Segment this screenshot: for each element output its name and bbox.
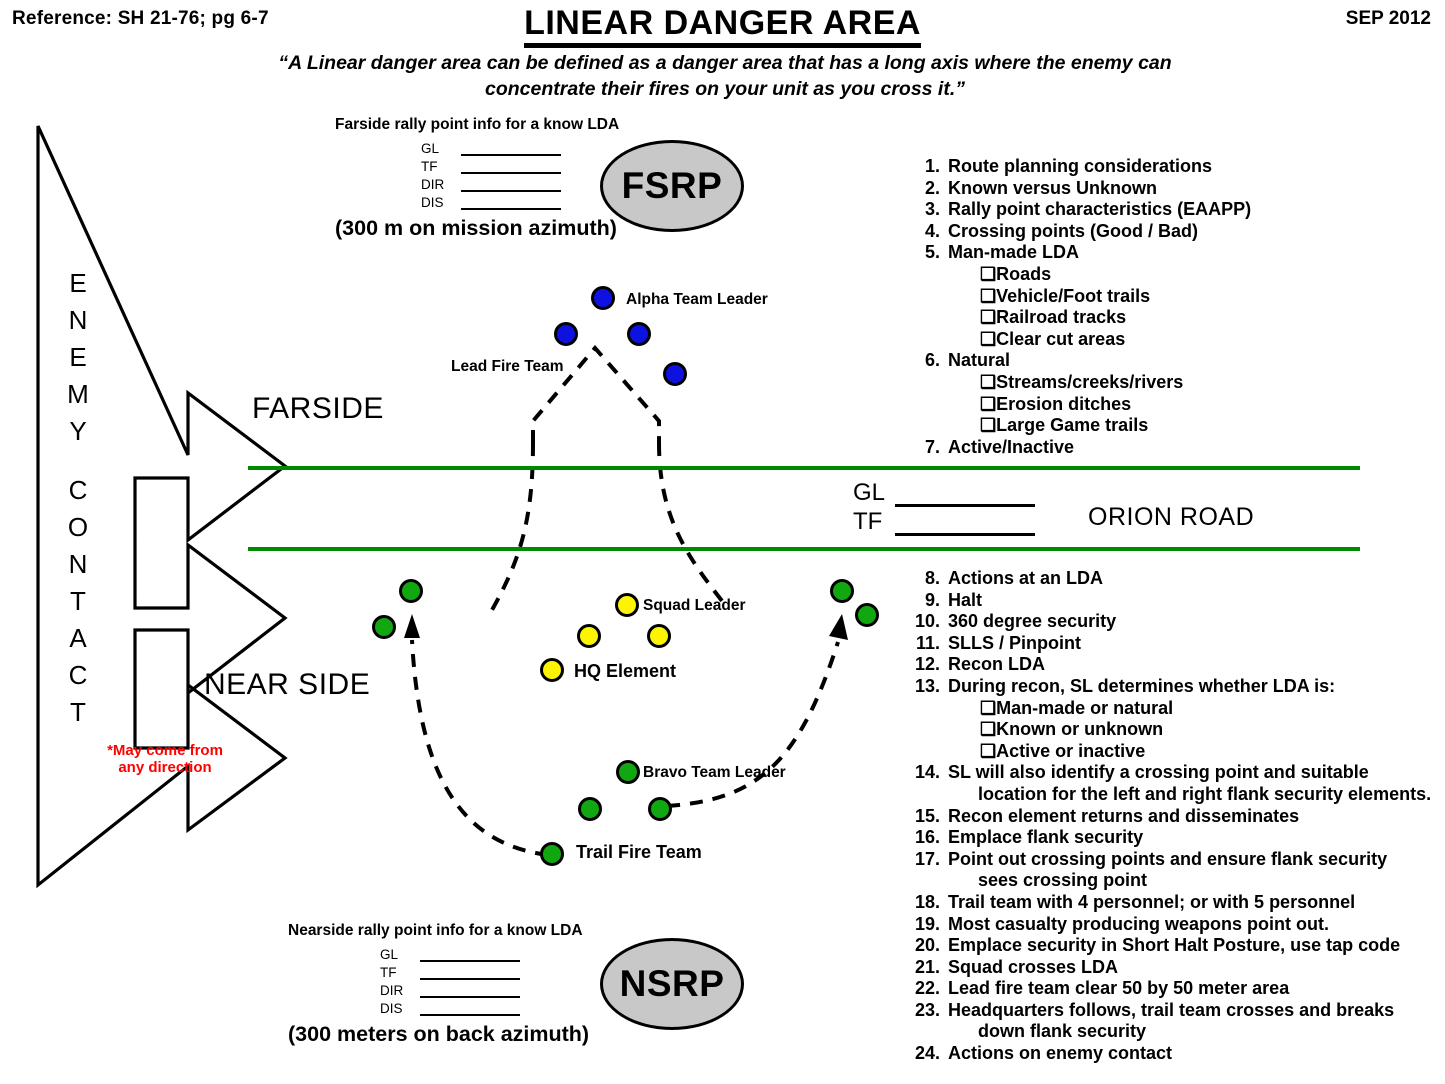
nearside-field-row: GL [380,944,589,962]
label-alpha-team-leader: Alpha Team Leader [626,291,768,309]
nearside-field-row: DIS [380,998,589,1016]
list-continuation: sees crossing point [910,870,1440,892]
list-item-text: 360 degree security [948,611,1440,633]
list-item: 17.Point out crossing points and ensure … [910,849,1440,871]
list-item: 11.SLLS / Pinpoint [910,633,1440,655]
list-item-text: Rally point characteristics (EAAPP) [948,199,1430,221]
list-item-text: Emplace security in Short Halt Posture, … [948,935,1440,957]
road-field-row: TF [853,507,1035,536]
list-item: 14.SL will also identify a crossing poin… [910,762,1440,784]
list-item-number: 16. [910,827,948,849]
list-item-text: Recon element returns and disseminates [948,806,1440,828]
road-info-fields: GL TF [853,478,1035,536]
list-item-text: sees crossing point [978,870,1440,892]
lda-actions-list: 8.Actions at an LDA9.Halt10.360 degree s… [910,568,1440,1065]
label-squad-leader: Squad Leader [643,597,746,615]
list-item-number: 5. [910,242,948,264]
list-item-number: 14. [910,762,948,784]
list-item: 18.Trail team with 4 personnel; or with … [910,892,1440,914]
list-item-text: Active/Inactive [948,437,1430,459]
list-item-number: 20. [910,935,948,957]
marker-bravo-team-leader [616,760,640,784]
list-item-text: Trail team with 4 personnel; or with 5 p… [948,892,1440,914]
marker-alpha-team-leader [591,286,615,310]
field-label: GL [853,479,895,507]
list-item: 24.Actions on enemy contact [910,1043,1440,1065]
list-item-text: down flank security [978,1021,1440,1043]
list-item-text: Actions on enemy contact [948,1043,1440,1065]
list-item: 20.Emplace security in Short Halt Postur… [910,935,1440,957]
list-item-text: Natural [948,350,1430,372]
list-item-number: 24. [910,1043,948,1065]
marker-lead-team-member [554,322,578,346]
list-item-text: ❑Known or unknown [980,719,1440,741]
list-item: 4.Crossing points (Good / Bad) [910,221,1430,243]
list-item-number: 21. [910,957,948,979]
nearside-field-row: DIR [380,980,589,998]
list-item-text: Crossing points (Good / Bad) [948,221,1430,243]
list-item: 2.Known versus Unknown [910,178,1430,200]
marker-lead-team-member [627,322,651,346]
list-item-text: ❑Clear cut areas [980,329,1430,351]
list-item-text: SLLS / Pinpoint [948,633,1440,655]
list-item-text: ❑Erosion ditches [980,394,1430,416]
list-item-number: 2. [910,178,948,200]
field-label: DIS [380,1001,414,1016]
list-item-number: 8. [910,568,948,590]
list-item: 19.Most casualty producing weapons point… [910,914,1440,936]
label-lead-fire-team: Lead Fire Team [451,358,564,376]
marker-lead-team-member [663,362,687,386]
list-item-number: 6. [910,350,948,372]
list-sub-item: ❑Railroad tracks [910,307,1430,329]
marker-hq-member [577,624,601,648]
list-item-number: 4. [910,221,948,243]
list-item: 15.Recon element returns and disseminate… [910,806,1440,828]
list-item: 22.Lead fire team clear 50 by 50 meter a… [910,978,1440,1000]
list-item: 5.Man-made LDA [910,242,1430,264]
list-item: 6.Natural [910,350,1430,372]
list-item-text: Recon LDA [948,654,1440,676]
list-sub-item: ❑Streams/creeks/rivers [910,372,1430,394]
list-item: 7.Active/Inactive [910,437,1430,459]
road-name-label: ORION ROAD [1088,503,1254,532]
field-blank-line[interactable] [895,513,1035,536]
list-item-number: 3. [910,199,948,221]
nsrp-oval: NSRP [600,938,744,1030]
field-label: DIR [380,983,414,998]
list-item-text: ❑Railroad tracks [980,307,1430,329]
label-bravo-team-leader: Bravo Team Leader [643,764,786,782]
marker-right-flank-security [830,579,854,603]
list-item-number: 13. [910,676,948,698]
list-item: 12.Recon LDA [910,654,1440,676]
list-item: 13.During recon, SL determines whether L… [910,676,1440,698]
marker-hq-member [540,658,564,682]
nearside-rally-fields: GL TF DIR DIS [380,944,589,1016]
label-trail-fire-team: Trail Fire Team [576,842,702,863]
list-item: 1.Route planning considerations [910,156,1430,178]
list-item-number: 9. [910,590,948,612]
list-item-number: 17. [910,849,948,871]
list-item-number: 12. [910,654,948,676]
list-item-text: ❑Man-made or natural [980,698,1440,720]
nearside-rally-note: (300 meters on back azimuth) [288,1022,589,1047]
list-item-text: Lead fire team clear 50 by 50 meter area [948,978,1440,1000]
list-sub-item: ❑Active or inactive [910,741,1440,763]
list-item-text: ❑Vehicle/Foot trails [980,286,1430,308]
list-sub-item: ❑Roads [910,264,1430,286]
list-item-text: Known versus Unknown [948,178,1430,200]
road-field-row: GL [853,478,1035,507]
list-item-text: Emplace flank security [948,827,1440,849]
list-item-text: Actions at an LDA [948,568,1440,590]
farside-label: FARSIDE [252,392,384,426]
list-item-text: Point out crossing points and ensure fla… [948,849,1440,871]
list-item-number: 23. [910,1000,948,1022]
field-blank-line[interactable] [420,1001,520,1016]
marker-trail-team-member [540,842,564,866]
field-blank-line[interactable] [895,484,1035,507]
field-blank-line[interactable] [420,983,520,998]
field-label: GL [380,947,414,962]
list-item-number: 15. [910,806,948,828]
list-item-text: ❑Large Game trails [980,415,1430,437]
marker-left-flank-security [372,615,396,639]
nearside-field-row: TF [380,962,589,980]
list-sub-item: ❑Clear cut areas [910,329,1430,351]
list-item-text: Halt [948,590,1440,612]
lda-considerations-list: 1.Route planning considerations2.Known v… [910,156,1430,458]
list-item-text: Most casualty producing weapons point ou… [948,914,1440,936]
marker-squad-leader [615,593,639,617]
list-item-text: ❑Roads [980,264,1430,286]
list-item: 3.Rally point characteristics (EAAPP) [910,199,1430,221]
list-sub-item: ❑Erosion ditches [910,394,1430,416]
list-item: 9.Halt [910,590,1440,612]
list-item: 10.360 degree security [910,611,1440,633]
list-item-number: 19. [910,914,948,936]
list-item-number: 22. [910,978,948,1000]
field-label: TF [380,965,414,980]
list-item-text: Headquarters follows, trail team crosses… [948,1000,1440,1022]
list-continuation: down flank security [910,1021,1440,1043]
list-item-text: Squad crosses LDA [948,957,1440,979]
marker-right-flank-security [855,603,879,627]
list-item: 23.Headquarters follows, trail team cros… [910,1000,1440,1022]
field-label: TF [853,508,895,536]
field-blank-line[interactable] [420,965,520,980]
list-sub-item: ❑Man-made or natural [910,698,1440,720]
list-item-text: ❑Active or inactive [980,741,1440,763]
nearside-label: NEAR SIDE [204,668,370,702]
list-item-text: Route planning considerations [948,156,1430,178]
list-item-number: 11. [910,633,948,655]
list-sub-item: ❑Vehicle/Foot trails [910,286,1430,308]
field-blank-line[interactable] [420,947,520,962]
nearside-rally-block: Nearside rally point info for a know LDA… [288,922,589,1047]
list-item-number: 10. [910,611,948,633]
marker-trail-team-member [648,797,672,821]
list-item-number: 18. [910,892,948,914]
nsrp-label: NSRP [620,963,725,1005]
list-item-text: location for the left and right flank se… [978,784,1440,806]
list-item-text: During recon, SL determines whether LDA … [948,676,1440,698]
list-item-text: Man-made LDA [948,242,1430,264]
marker-hq-member [647,624,671,648]
label-hq-element: HQ Element [574,661,676,682]
marker-left-flank-security [399,579,423,603]
list-item-text: SL will also identify a crossing point a… [948,762,1440,784]
list-item-text: ❑Streams/creeks/rivers [980,372,1430,394]
nearside-rally-heading: Nearside rally point info for a know LDA [288,922,589,940]
list-sub-item: ❑Known or unknown [910,719,1440,741]
list-continuation: location for the left and right flank se… [910,784,1440,806]
list-item-number: 1. [910,156,948,178]
list-sub-item: ❑Large Game trails [910,415,1430,437]
list-item: 16.Emplace flank security [910,827,1440,849]
list-item: 8.Actions at an LDA [910,568,1440,590]
list-item: 21.Squad crosses LDA [910,957,1440,979]
marker-trail-team-member [578,797,602,821]
list-item-number: 7. [910,437,948,459]
